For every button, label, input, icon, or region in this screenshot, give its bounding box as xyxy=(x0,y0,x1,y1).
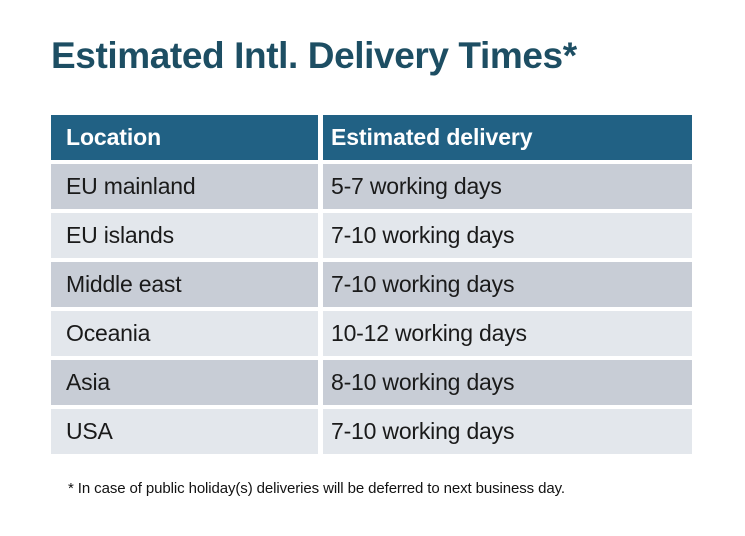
delivery-times-page: Estimated Intl. Delivery Times* Location… xyxy=(0,0,745,536)
column-header-location: Location xyxy=(51,115,318,160)
cell-estimated-delivery: 8-10 working days xyxy=(323,360,692,405)
table-row: Asia 8-10 working days xyxy=(51,360,692,405)
cell-location: EU islands xyxy=(51,213,318,258)
cell-location: Oceania xyxy=(51,311,318,356)
delivery-times-table: Location Estimated delivery EU mainland … xyxy=(51,115,692,454)
cell-location: Middle east xyxy=(51,262,318,307)
page-title: Estimated Intl. Delivery Times* xyxy=(51,33,577,79)
table-row: Oceania 10-12 working days xyxy=(51,311,692,356)
cell-estimated-delivery: 7-10 working days xyxy=(323,409,692,454)
cell-estimated-delivery: 10-12 working days xyxy=(323,311,692,356)
cell-estimated-delivery: 7-10 working days xyxy=(323,213,692,258)
cell-estimated-delivery: 5-7 working days xyxy=(323,164,692,209)
table-row: USA 7-10 working days xyxy=(51,409,692,454)
cell-location: EU mainland xyxy=(51,164,318,209)
table-row: Middle east 7-10 working days xyxy=(51,262,692,307)
table-header-row: Location Estimated delivery xyxy=(51,115,692,160)
column-header-estimated-delivery: Estimated delivery xyxy=(323,115,692,160)
footnote-text: * In case of public holiday(s) deliverie… xyxy=(68,480,565,497)
table-row: EU islands 7-10 working days xyxy=(51,213,692,258)
cell-location: Asia xyxy=(51,360,318,405)
cell-location: USA xyxy=(51,409,318,454)
cell-estimated-delivery: 7-10 working days xyxy=(323,262,692,307)
table-row: EU mainland 5-7 working days xyxy=(51,164,692,209)
